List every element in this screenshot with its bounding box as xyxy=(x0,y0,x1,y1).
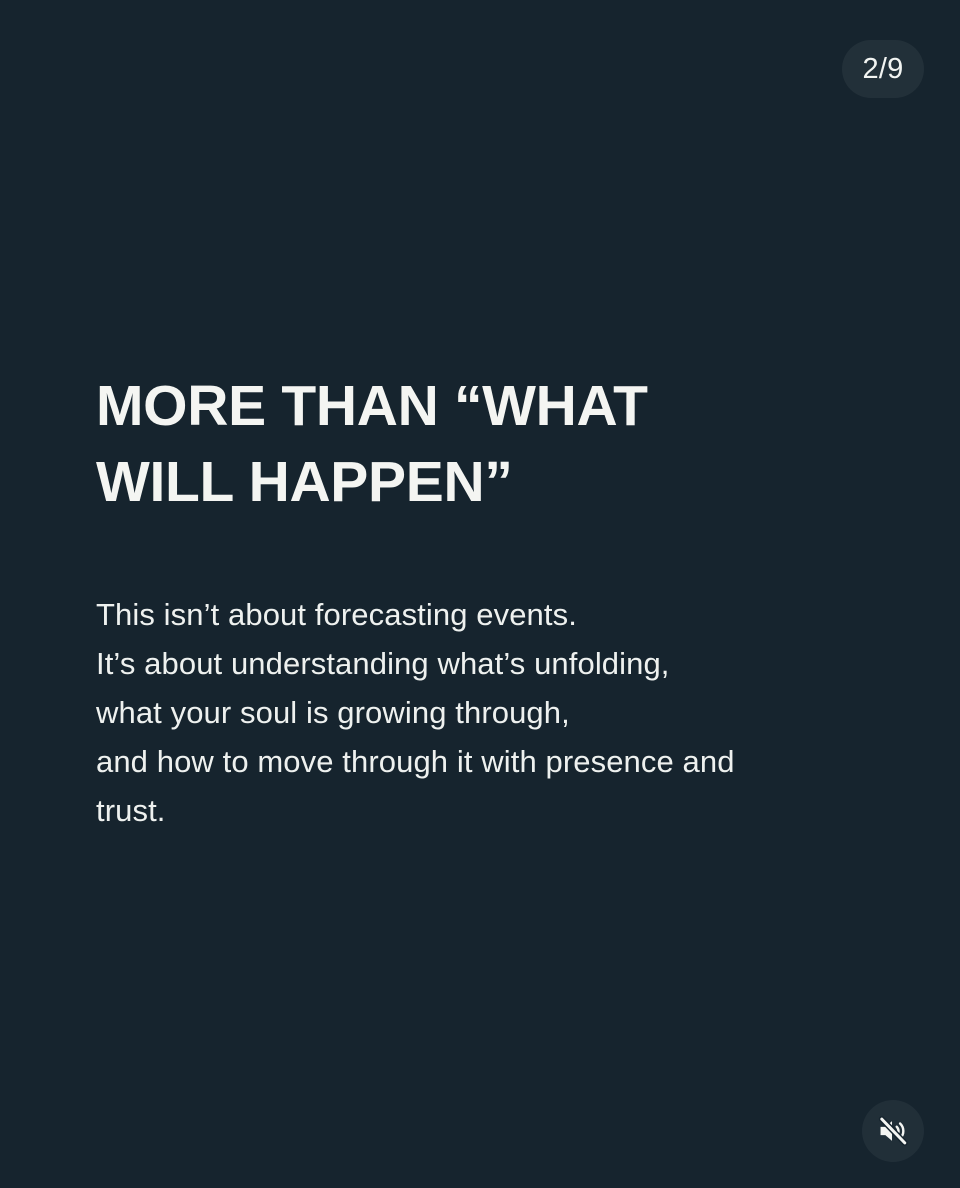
body-line: This isn’t about forecasting events. xyxy=(96,590,816,639)
page-indicator-label: 2/9 xyxy=(863,55,904,84)
body-line: It’s about understanding what’s unfoldin… xyxy=(96,639,816,688)
page-title: MORE THAN “WHAT WILL HAPPEN” xyxy=(96,368,736,520)
body-line: and how to move through it with presence… xyxy=(96,737,816,786)
slide-content: MORE THAN “WHAT WILL HAPPEN” This isn’t … xyxy=(96,368,836,835)
body-copy: This isn’t about forecasting events. It’… xyxy=(96,520,816,835)
mute-toggle-button[interactable] xyxy=(862,1100,924,1162)
slide-canvas: 2/9 MORE THAN “WHAT WILL HAPPEN” This is… xyxy=(0,0,960,1188)
body-line: trust. xyxy=(96,786,816,835)
page-indicator: 2/9 xyxy=(842,40,924,98)
speaker-muted-icon xyxy=(876,1114,910,1148)
body-line: what your soul is growing through, xyxy=(96,688,816,737)
